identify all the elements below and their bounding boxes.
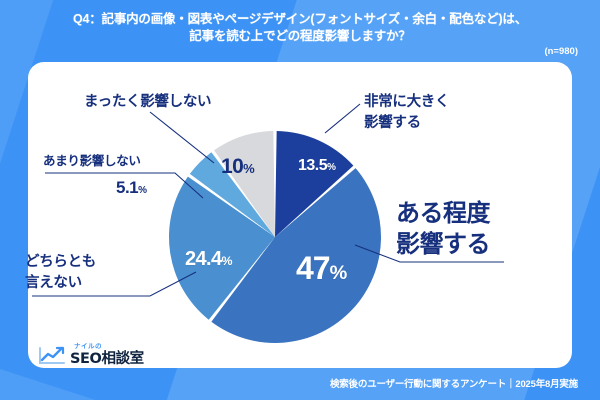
- value-none-number: 10: [221, 155, 243, 178]
- label-neither-line2: 言えない: [25, 275, 82, 291]
- brand-logo: ナイルの SEO相談室: [38, 341, 158, 367]
- page-title-line1: Q4：記事内の画像・図表やページデザイン(フォントサイズ・余白・配色など)は、: [73, 12, 527, 26]
- value-very-big-percent: %: [327, 162, 335, 173]
- label-neither-line1: どちらとも: [25, 254, 96, 270]
- sample-size-label: (n=980): [544, 46, 578, 57]
- value-some-number: 47: [296, 250, 330, 286]
- label-some-line2: 影響する: [396, 231, 490, 258]
- label-neither: どちらとも 言えない: [25, 252, 96, 294]
- label-none: まったく影響しない: [84, 92, 211, 112]
- value-little-percent: %: [138, 185, 146, 196]
- page-title-line2: 記事を読む上でどの程度影響しますか？: [18, 28, 582, 45]
- label-very-big-line2: 影響する: [364, 115, 421, 131]
- page-title: Q4：記事内の画像・図表やページデザイン(フォントサイズ・余白・配色など)は、 …: [18, 11, 582, 45]
- value-neither: 24.4%: [185, 248, 232, 271]
- footer-note: 検索後のユーザー行動に関するアンケート｜2025年8月実施: [330, 376, 578, 390]
- value-none-percent: %: [243, 161, 254, 176]
- value-some-percent: %: [330, 262, 347, 284]
- label-very-big-line1: 非常に大きく: [364, 94, 449, 110]
- value-very-big: 13.5%: [298, 157, 335, 175]
- label-very-big: 非常に大きく 影響する: [364, 92, 449, 134]
- value-neither-percent: %: [222, 254, 232, 268]
- value-neither-number: 24.4: [185, 248, 222, 270]
- value-very-big-number: 13.5: [298, 157, 327, 174]
- header: Q4：記事内の画像・図表やページデザイン(フォントサイズ・余白・配色など)は、 …: [0, 0, 600, 62]
- value-some: 47%: [296, 250, 346, 287]
- brand-logo-main: SEO相談室: [70, 347, 144, 368]
- value-little-number: 5.1: [116, 178, 138, 197]
- label-some-line1: ある程度: [396, 200, 490, 227]
- value-little: 5.1%: [116, 178, 147, 198]
- chart-line-icon: [38, 346, 66, 370]
- infographic-canvas: Q4：記事内の画像・図表やページデザイン(フォントサイズ・余白・配色など)は、 …: [0, 0, 600, 400]
- value-none: 10%: [221, 155, 254, 179]
- label-little: あまり影響しない: [43, 153, 141, 170]
- label-some: ある程度 影響する: [396, 198, 490, 260]
